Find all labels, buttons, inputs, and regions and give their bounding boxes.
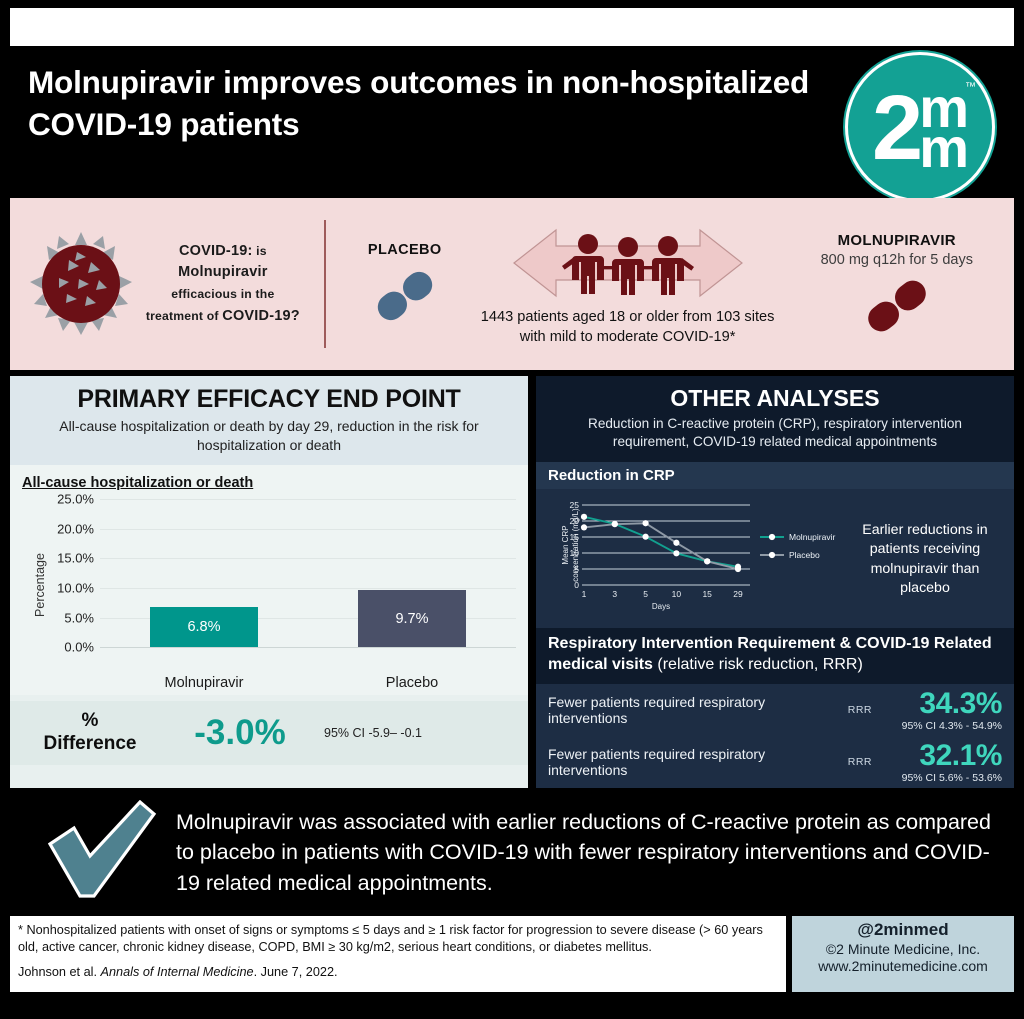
citation-text: Johnson et al. Annals of Internal Medici… [18,965,776,979]
rrr-row: Fewer patients required respiratory inte… [536,684,1014,736]
bar-ytick-label: 25.0% [57,492,94,507]
conclusion-band: Molnupiravir was associated with earlier… [10,794,1014,912]
primary-efficacy-header: PRIMARY EFFICACY END POINT All-cause hos… [10,376,528,465]
conclusion-text: Molnupiravir was associated with earlier… [176,807,998,899]
rrr-row-text: Fewer patients required respiratory inte… [548,694,840,726]
bar-placebo: 9.7% [358,590,466,647]
question-covid2: COVID-19? [222,308,300,324]
bar-xtick-label: Molnupiravir [100,675,308,691]
copyright-text: ©2 Minute Medicine, Inc. [798,941,1008,957]
placebo-label: PLACEBO [348,242,462,258]
rrr-row: Fewer patients required respiratory inte… [536,736,1014,788]
rrr-title-light: (relative risk reduction, RRR) [653,656,863,673]
drug-name-label: MOLNUPIRAVIR [794,232,1000,249]
citation-date: . June 7, 2022. [254,965,338,979]
crp-xtick-label: 5 [643,589,648,599]
crp-point-molnupiravir [673,550,679,556]
website-link[interactable]: www.2minutemedicine.com [798,958,1008,974]
logo-letter-m-bottom: m [919,128,968,168]
primary-efficacy-subtitle: All-cause hospitalization or death by da… [24,417,514,454]
rrr-ci: 95% CI 4.3% - 54.9% [880,720,1002,732]
rrr-section-title: Respiratory Intervention Requirement & C… [536,628,1014,684]
question-drug: Molnupiravir [178,264,267,280]
checkmark-glyph [40,800,158,900]
bar-ytick-label: 15.0% [57,551,94,566]
crp-xtick-label: 10 [672,589,682,599]
population-caption: 1443 patients aged 18 or older from 103 … [468,308,788,347]
crp-line-chart: 0510152025 135101529 MolnupiravirPlacebo… [546,497,846,622]
infographic-poster: Molnupiravir improves outcomes in non-ho… [0,0,1024,1019]
social-handle: @2minmed [798,920,1008,940]
population-arm: 1443 patients aged 18 or older from 103 … [462,220,794,347]
rrr-value: 32.1% [880,741,1002,771]
study-design-band: COVID-19: is Molnupiravir efficacious in… [10,198,1014,370]
crp-point-molnupiravir [643,534,649,540]
trademark-icon: ™ [965,81,976,93]
rrr-row-text: Fewer patients required respiratory inte… [548,746,840,778]
crp-xtick-label: 3 [612,589,617,599]
crp-legend-label: Molnupiravir [789,532,835,542]
difference-symbol: % [82,710,99,731]
bar-grid-line [100,529,516,530]
percent-difference-ci: 95% CI -5.9– -0.1 [324,726,422,740]
brand-logo: 2 m m ™ [845,52,995,202]
crp-xtick-label: 15 [702,589,712,599]
placebo-pill-icon [366,270,444,322]
crp-ylabel-line2: concentration (mg/L) [571,508,580,582]
bar-chart: Percentage 0.0%5.0%10.0%15.0%20.0%25.0% … [22,499,516,671]
other-analyses-subtitle: Reduction in C-reactive protein (CRP), r… [548,415,1002,451]
virus-icon [24,232,138,336]
difference-word: Difference [44,733,137,754]
rrr-value-block: 34.3%95% CI 4.3% - 54.9% [880,689,1002,732]
crp-chart-svg: 0510152025 135101529 MolnupiravirPlacebo… [546,497,846,617]
footer-notes: * Nonhospitalized patients with onset of… [10,916,786,992]
crp-section-title: Reduction in CRP [536,462,1014,489]
rrr-rows: Fewer patients required respiratory inte… [536,684,1014,788]
bar-chart-xlabels: MolnupiravirPlacebo [100,675,516,691]
crp-note: Earlier reductions in patients receiving… [846,521,1004,598]
crp-legend-marker [769,534,775,540]
main-panels: PRIMARY EFFICACY END POINT All-cause hos… [10,376,1014,788]
bar-grid-line [100,499,516,500]
footer: * Nonhospitalized patients with onset of… [10,916,1014,992]
crp-point-placebo [673,540,679,546]
crp-point-molnupiravir [581,514,587,520]
question-is: is [253,244,267,258]
crp-point-placebo [581,524,587,530]
footer-brand: @2minmed ©2 Minute Medicine, Inc. www.2m… [792,916,1014,992]
question-covid-label: COVID-19: [179,243,253,259]
molnupiravir-arm: MOLNUPIRAVIR 800 mg q12h for 5 days [794,232,1000,337]
other-analyses-title: OTHER ANALYSES [548,385,1002,412]
research-question: COVID-19: is Molnupiravir efficacious in… [138,241,308,328]
primary-efficacy-panel: PRIMARY EFFICACY END POINT All-cause hos… [10,376,528,788]
bar-ytick-label: 20.0% [57,521,94,536]
checkmark-icon [40,800,158,905]
bar-value-label: 6.8% [187,619,220,635]
other-analyses-panel: OTHER ANALYSES Reduction in C-reactive p… [536,376,1014,788]
percent-difference-row: % Difference -3.0% 95% CI -5.9– -0.1 [10,701,528,765]
bar-xtick-label: Placebo [308,675,516,691]
citation-author: Johnson et al. [18,965,101,979]
bar-molnupiravir: 6.8% [150,607,258,647]
rrr-tag: RRR [848,756,872,768]
question-treatment: treatment of [146,309,222,323]
placebo-arm: PLACEBO [348,242,462,327]
bar-value-label: 9.7% [395,611,428,627]
section-divider [324,220,326,348]
bar-chart-zone: All-cause hospitalization or death Perce… [10,465,528,695]
coronavirus-glyph [29,232,133,336]
crp-xtick-label: 1 [582,589,587,599]
bar-ytick-label: 10.0% [57,581,94,596]
rrr-value-block: 32.1%95% CI 5.6% - 53.6% [880,741,1002,784]
citation-journal: Annals of Internal Medicine [101,965,254,979]
percent-difference-label: % Difference [24,710,156,756]
molnupiravir-pill-icon [856,280,938,332]
crp-xlabel: Days [652,602,670,611]
bar-ytick-label: 5.0% [64,610,94,625]
crp-point-placebo [612,521,618,527]
page-title: Molnupiravir improves outcomes in non-ho… [28,62,814,146]
bar-chart-title: All-cause hospitalization or death [22,475,516,491]
bar-chart-yticks: 0.0%5.0%10.0%15.0%20.0%25.0% [44,499,100,647]
drug-dose-label: 800 mg q12h for 5 days [794,252,1000,268]
question-efficacious: efficacious in the [171,287,274,301]
bar-ytick-label: 0.0% [64,640,94,655]
rrr-ci: 95% CI 5.6% - 53.6% [880,772,1002,784]
footnote-text: * Nonhospitalized patients with onset of… [18,922,776,956]
bar-chart-plot: 6.8%9.7% [100,499,516,647]
title-band: Molnupiravir improves outcomes in non-ho… [10,46,1014,198]
crp-ylabel-line1: Mean CRP [561,526,570,565]
logo-digit: 2 [872,89,918,167]
population-arrow-icon [468,220,788,306]
other-analyses-header: OTHER ANALYSES Reduction in C-reactive p… [536,376,1014,462]
crp-xtick-label: 29 [733,589,743,599]
percent-difference-value: -3.0% [166,713,314,753]
crp-chart-zone: 0510152025 135101529 MolnupiravirPlacebo… [536,489,1014,628]
primary-efficacy-title: PRIMARY EFFICACY END POINT [24,385,514,414]
bar-grid-line [100,558,516,559]
crp-point-placebo [704,558,710,564]
crp-point-placebo [643,520,649,526]
crp-point-placebo [735,566,741,572]
crp-legend-label: Placebo [789,550,820,560]
crp-legend-marker [769,552,775,558]
rrr-tag: RRR [848,704,872,716]
top-white-strip [10,8,1014,46]
bar-axis-line [100,647,516,648]
rrr-value: 34.3% [880,689,1002,719]
